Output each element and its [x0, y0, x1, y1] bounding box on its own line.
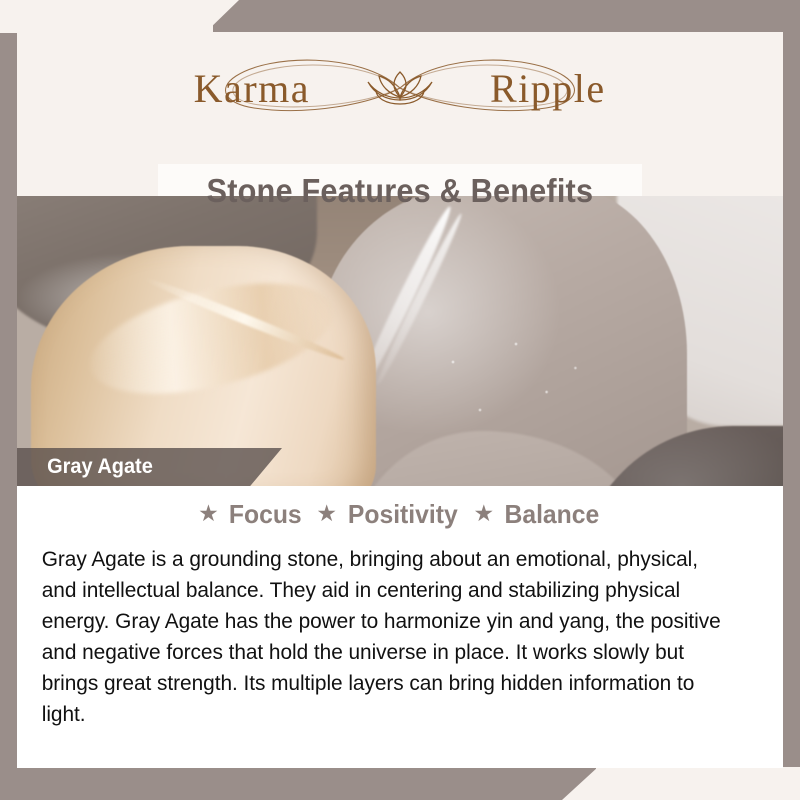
stone-speckles [417, 326, 597, 446]
lotus-infinity-icon: Karma Ripple [190, 46, 610, 130]
brand-name-right: Ripple [490, 66, 606, 111]
stone-name-badge: Gray Agate [17, 448, 282, 486]
brand-logo: Karma Ripple [17, 32, 783, 147]
keyword-label: Focus [229, 499, 302, 530]
keyword-item-focus: ★ Focus [198, 499, 303, 530]
keyword-label: Balance [505, 499, 600, 530]
keyword-list: ★ Focus ★ Positivity ★ Balance [33, 486, 767, 542]
keyword-item-balance: ★ Balance [474, 499, 602, 530]
stone-photo: Gray Agate [17, 196, 783, 486]
star-icon: ★ [316, 502, 337, 525]
star-icon: ★ [474, 502, 495, 525]
stone-details-panel: ★ Focus ★ Positivity ★ Balance Gray Agat… [17, 486, 783, 768]
keyword-label: Positivity [348, 499, 458, 530]
stone-name-label: Gray Agate [20, 455, 152, 479]
brand-name-left: Karma [194, 66, 310, 111]
frame-notch-bottom-right [596, 767, 800, 800]
keyword-item-positivity: ★ Positivity [316, 499, 460, 530]
frame-notch-top-left [0, 0, 213, 33]
stone-description: Gray Agate is a grounding stone, bringin… [33, 542, 745, 730]
poster-frame: Karma Ripple Stone Features & Benefits G [0, 0, 800, 800]
page-title: Stone Features & Benefits [207, 172, 594, 210]
frame-diagonal-bottom-right [562, 767, 598, 800]
star-icon: ★ [198, 502, 219, 525]
poster-card: Karma Ripple Stone Features & Benefits G [17, 32, 783, 768]
